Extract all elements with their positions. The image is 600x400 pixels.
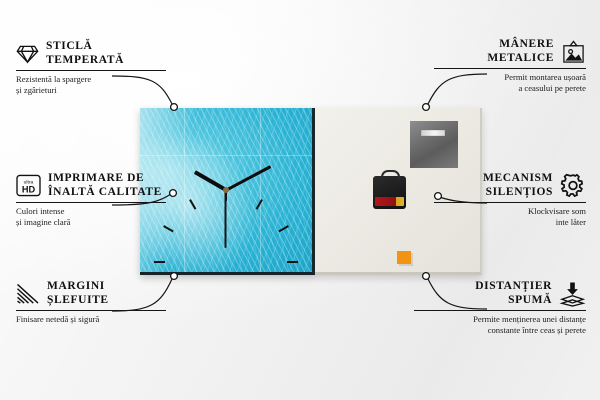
feature-heading: MECANISM SILENȚIOS [434, 172, 586, 199]
quartz-movement [373, 176, 406, 209]
product-image [140, 108, 480, 272]
feature-divider [16, 70, 166, 71]
hour-tick [278, 225, 289, 232]
ultra-hd-icon: ultra HD [16, 174, 41, 197]
feature-divider [434, 68, 586, 69]
feature-divider [16, 202, 166, 203]
infographic-canvas: STICLĂ TEMPERATĂ Rezistentă la spargere … [0, 0, 600, 400]
hour-tick [256, 199, 263, 210]
hour-tick [154, 261, 165, 263]
hanger-bail [381, 170, 400, 180]
ultra-hd-large-text: HD [22, 184, 36, 194]
hour-tick [287, 261, 298, 263]
feature-title: DISTANȚIER SPUMĂ [475, 280, 552, 307]
clock-minute-hand [225, 165, 271, 191]
diamond-icon [16, 44, 39, 64]
feature-title: IMPRIMARE DE ÎNALTĂ CALITATE [48, 172, 162, 199]
hour-tick [189, 199, 196, 210]
feature-metal-handles: MÂNERE METALICE Permit montarea ușoară a… [434, 38, 586, 93]
feature-description: Permit montarea ușoară a ceasului pe per… [434, 72, 586, 93]
hanger-slot [421, 130, 445, 136]
feature-tempered-glass: STICLĂ TEMPERATĂ Rezistentă la spargere … [16, 40, 166, 95]
clock-hour-hand [194, 170, 227, 191]
feature-description: Culori intense și imagine clară [16, 206, 166, 227]
feature-heading: DISTANȚIER SPUMĂ [414, 280, 586, 307]
feature-polished-edges: MARGINI ȘLEFUITE Finisare netedă și sigu… [16, 280, 166, 325]
feature-description: Finisare netedă și sigură [16, 314, 166, 325]
feature-description: Klockvisare som inte låter [434, 206, 586, 227]
feature-foam-spacer: DISTANȚIER SPUMĂ Permite menținerea unei… [414, 280, 586, 335]
gear-icon [560, 173, 586, 198]
feature-description: Rezistentă la spargere și zgârieturi [16, 74, 166, 95]
feature-heading: MARGINI ȘLEFUITE [16, 280, 166, 307]
feature-heading: STICLĂ TEMPERATĂ [16, 40, 166, 67]
clock-center-hub [223, 187, 229, 193]
foam-spacer-pad [397, 251, 411, 264]
feature-description: Permite menținerea unei distanțe constan… [414, 314, 586, 335]
beveled-edge-icon [16, 283, 40, 304]
feature-title: STICLĂ TEMPERATĂ [46, 40, 124, 67]
feature-heading: ultra HD IMPRIMARE DE ÎNALTĂ CALITATE [16, 172, 166, 199]
feature-silent-mechanism: MECANISM SILENȚIOS Klockvisare som inte … [434, 172, 586, 227]
press-layers-icon [559, 281, 586, 307]
clock-front-panel [140, 108, 315, 275]
aa-battery [375, 197, 404, 206]
feature-high-quality-print: ultra HD IMPRIMARE DE ÎNALTĂ CALITATE Cu… [16, 172, 166, 227]
feature-title: MECANISM SILENȚIOS [483, 172, 553, 199]
feature-divider [16, 310, 166, 311]
feature-divider [434, 202, 586, 203]
feature-title: MÂNERE METALICE [487, 38, 554, 65]
metal-hanger-plate [410, 121, 458, 168]
feature-title: MARGINI ȘLEFUITE [47, 280, 109, 307]
feature-heading: MÂNERE METALICE [434, 38, 586, 65]
picture-frame-hanger-icon [561, 40, 586, 64]
feature-divider [414, 310, 586, 311]
